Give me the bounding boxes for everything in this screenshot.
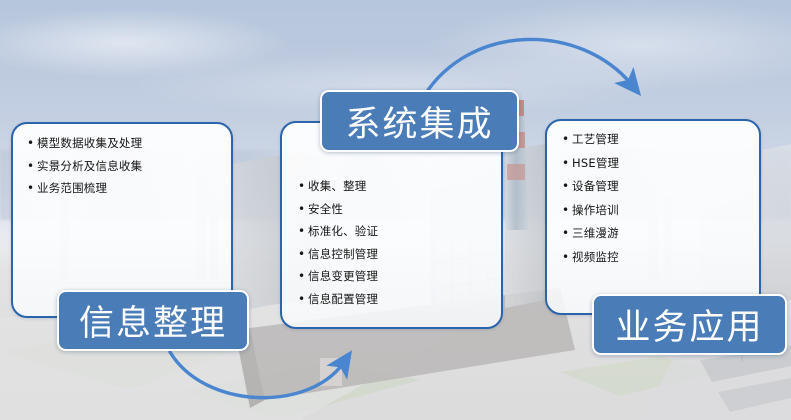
list-item: 安全性 bbox=[298, 204, 501, 216]
stage-label-info: 信息整理 bbox=[57, 290, 249, 351]
list-item: 视频监控 bbox=[562, 252, 759, 264]
list-item: 信息控制管理 bbox=[298, 249, 501, 261]
list-item: 设备管理 bbox=[562, 181, 759, 193]
list-item: 模型数据收集及处理 bbox=[27, 138, 231, 150]
list-item: 信息配置管理 bbox=[298, 294, 501, 306]
stage-label-application: 业务应用 bbox=[592, 294, 787, 355]
application-item-list: 工艺管理 HSE管理 设备管理 操作培训 三维漫游 视频监控 bbox=[547, 121, 759, 263]
list-item: 操作培训 bbox=[562, 205, 759, 217]
stage-label-system: 系统集成 bbox=[320, 90, 519, 152]
panel-application: 工艺管理 HSE管理 设备管理 操作培训 三维漫游 视频监控 bbox=[545, 119, 761, 315]
panel-info: 模型数据收集及处理 实景分析及信息收集 业务范围梳理 bbox=[11, 122, 233, 318]
list-item: 三维漫游 bbox=[562, 228, 759, 240]
info-item-list: 模型数据收集及处理 实景分析及信息收集 业务范围梳理 bbox=[13, 124, 231, 195]
panel-system: 收集、整理 安全性 标准化、验证 信息控制管理 信息变更管理 信息配置管理 bbox=[280, 121, 503, 329]
list-item: 信息变更管理 bbox=[298, 271, 501, 283]
list-item: 工艺管理 bbox=[562, 134, 759, 146]
list-item: 收集、整理 bbox=[298, 181, 501, 193]
list-item: HSE管理 bbox=[562, 158, 759, 170]
slide-canvas: 模型数据收集及处理 实景分析及信息收集 业务范围梳理 收集、整理 安全性 标准化… bbox=[0, 0, 791, 420]
list-item: 实景分析及信息收集 bbox=[27, 161, 231, 173]
list-item: 标准化、验证 bbox=[298, 226, 501, 238]
list-item: 业务范围梳理 bbox=[27, 183, 231, 195]
